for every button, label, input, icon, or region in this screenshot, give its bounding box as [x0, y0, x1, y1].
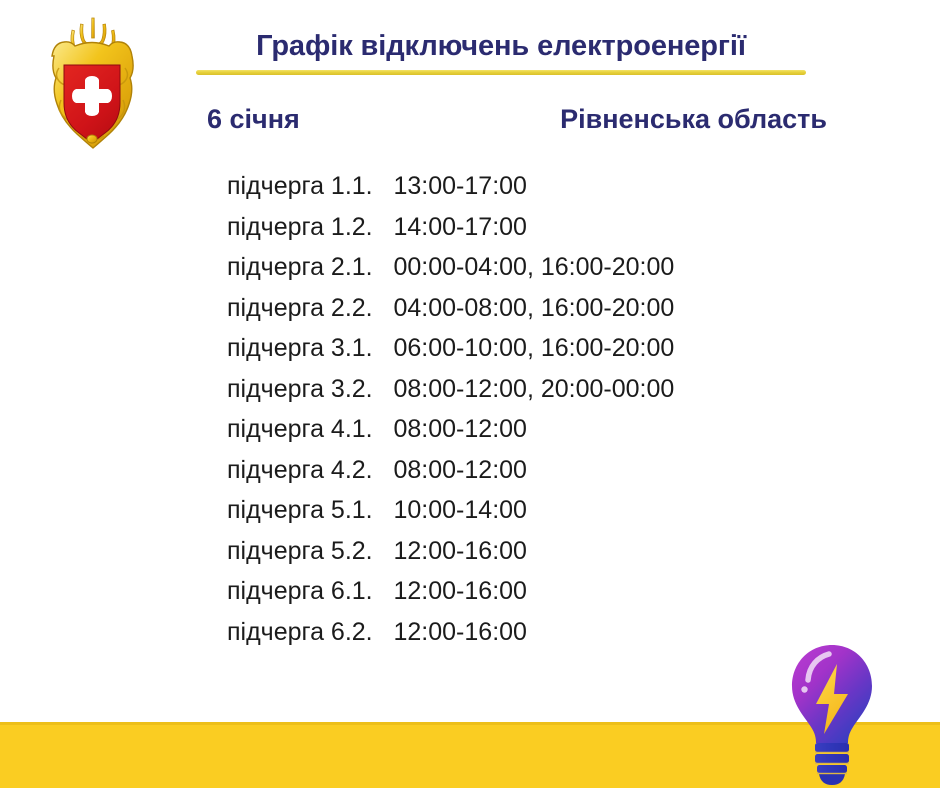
queue-times: 08:00-12:00 [394, 456, 527, 484]
queue-label: підчерга 5.2. [227, 537, 373, 565]
queue-times: 08:00-12:00, 20:00-00:00 [394, 375, 675, 403]
schedule-region: Рівненська область [560, 102, 827, 136]
queue-times: 12:00-16:00 [394, 537, 527, 565]
list-item: підчерга 5.2. 12:00-16:00 [227, 531, 887, 572]
schedule-date: 6 січня [207, 102, 300, 136]
queue-label: підчерга 1.2. [227, 213, 373, 241]
queue-label: підчерга 6.1. [227, 577, 373, 605]
list-item: підчерга 2.2. 04:00-08:00, 16:00-20:00 [227, 288, 887, 329]
queue-times: 00:00-04:00, 16:00-20:00 [394, 253, 675, 281]
queue-label: підчерга 2.1. [227, 253, 373, 281]
queue-times: 12:00-16:00 [394, 577, 527, 605]
queue-times: 06:00-10:00, 16:00-20:00 [394, 334, 675, 362]
lightbulb-with-bolt-icon [786, 642, 878, 788]
queue-times: 14:00-17:00 [394, 213, 527, 241]
queue-label: підчерга 4.2. [227, 456, 373, 484]
list-item: підчерга 1.1. 13:00-17:00 [227, 166, 887, 207]
list-item: підчерга 4.1. 08:00-12:00 [227, 409, 887, 450]
queue-times: 12:00-16:00 [394, 618, 527, 646]
list-item: підчерга 3.1. 06:00-10:00, 16:00-20:00 [227, 328, 887, 369]
outage-schedule-slide: Графік відключень електроенергії 6 січня… [0, 0, 940, 788]
queue-label: підчерга 4.1. [227, 415, 373, 443]
list-item: підчерга 3.2. 08:00-12:00, 20:00-00:00 [227, 369, 887, 410]
queue-label: підчерга 6.2. [227, 618, 373, 646]
queue-times: 08:00-12:00 [394, 415, 527, 443]
list-item: підчерга 1.2. 14:00-17:00 [227, 207, 887, 248]
list-item: підчерга 4.2. 08:00-12:00 [227, 450, 887, 491]
queue-times: 13:00-17:00 [394, 172, 527, 200]
list-item: підчерга 5.1. 10:00-14:00 [227, 490, 887, 531]
queue-label: підчерга 3.2. [227, 375, 373, 403]
page-title: Графік відключень електроенергії [196, 28, 806, 64]
queue-label: підчерга 5.1. [227, 496, 373, 524]
date-region-row: 6 січня Рівненська область [196, 102, 836, 140]
queue-label: підчерга 3.1. [227, 334, 373, 362]
title-underline-rule [196, 70, 806, 75]
list-item: підчерга 2.1. 00:00-04:00, 16:00-20:00 [227, 247, 887, 288]
outage-schedule-list: підчерга 1.1. 13:00-17:00 підчерга 1.2. … [227, 166, 887, 652]
list-item: підчерга 6.1. 12:00-16:00 [227, 571, 887, 612]
queue-label: підчерга 2.2. [227, 294, 373, 322]
queue-times: 10:00-14:00 [394, 496, 527, 524]
queue-label: підчерга 1.1. [227, 172, 373, 200]
queue-times: 04:00-08:00, 16:00-20:00 [394, 294, 675, 322]
rivne-oblast-coat-of-arms-icon [31, 12, 153, 154]
